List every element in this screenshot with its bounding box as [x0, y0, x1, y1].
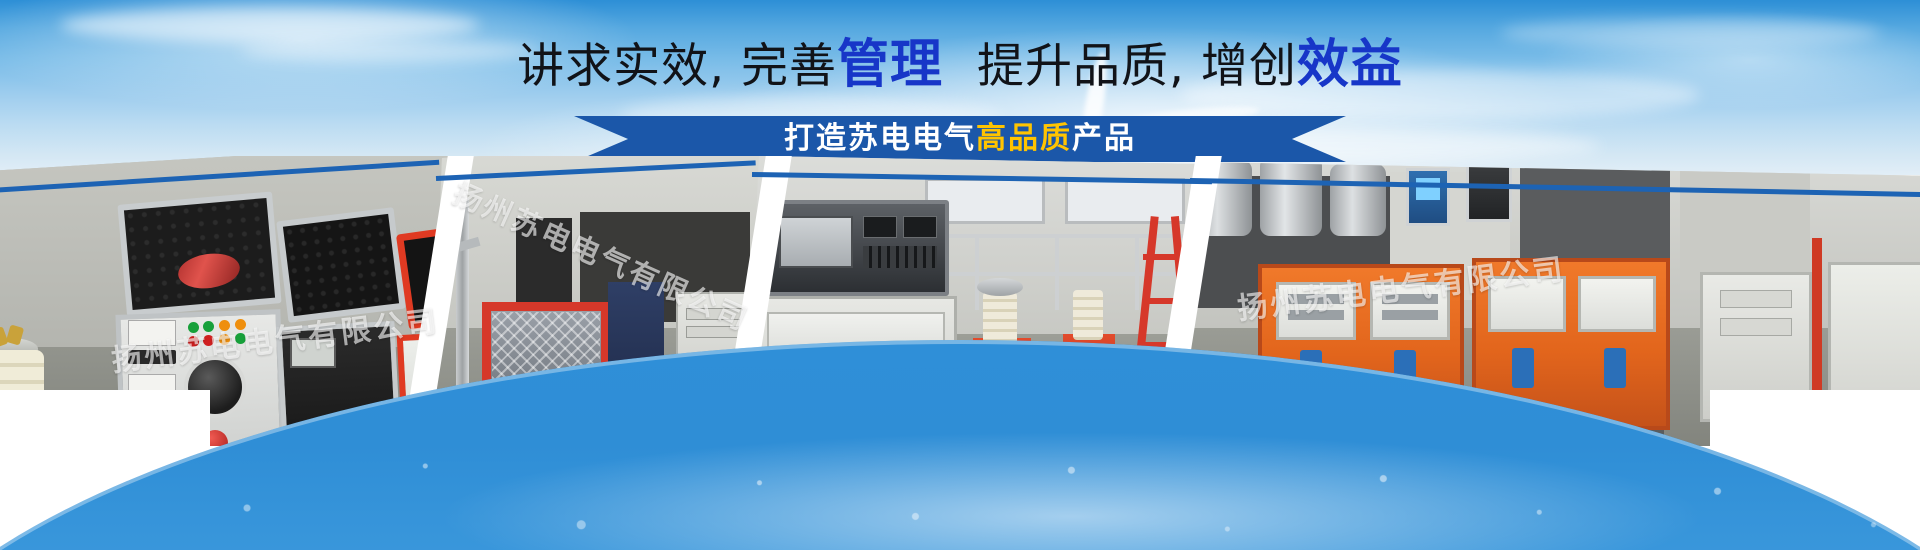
ribbon-suffix: 产品	[1072, 121, 1136, 156]
headline-part1-highlight: 管理	[837, 35, 943, 95]
headline-part2-dark: 提升品质, 增创	[977, 39, 1297, 94]
ribbon-highlight: 高品质	[976, 121, 1072, 156]
headline-part2-highlight: 效益	[1297, 35, 1403, 95]
ribbon-prefix: 打造苏电电气	[784, 121, 976, 156]
headline-part1-dark: 讲求实效, 完善	[517, 39, 837, 94]
banner-root: 讲求实效, 完善管理提升品质, 增创效益 打造苏电电气高品质产品	[0, 0, 1920, 550]
headline: 讲求实效, 完善管理提升品质, 增创效益	[0, 36, 1920, 96]
